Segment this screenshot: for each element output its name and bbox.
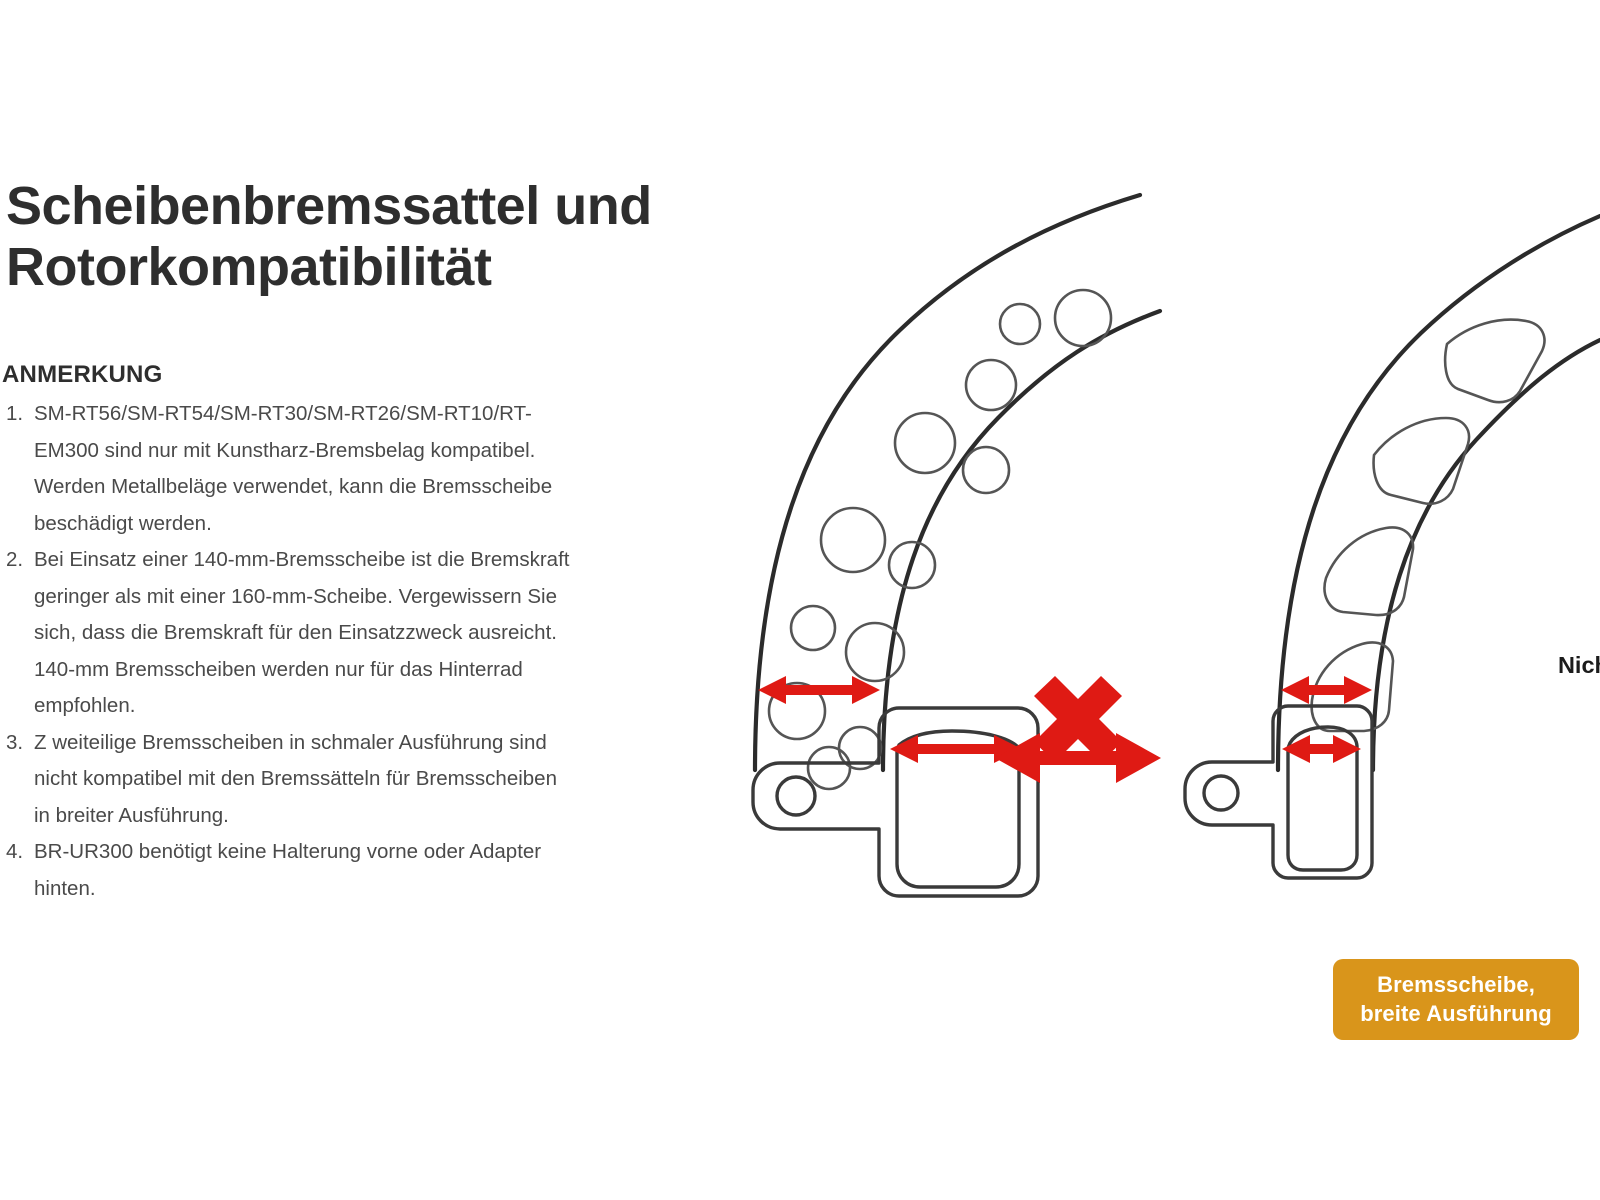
note-item-4-number: 4. — [6, 834, 34, 871]
rotor-hole — [821, 508, 885, 572]
note-item-2-number: 2. — [6, 542, 34, 579]
note-list: 1. SM-RT56/SM-RT54/SM-RT30/SM-RT26/SM-RT… — [0, 396, 575, 907]
rotor-hole — [966, 360, 1016, 410]
rotor-narrow-slots — [1312, 320, 1545, 731]
rotor-hole — [895, 413, 955, 473]
badge-rotor-wide-line-2: breite Ausführung — [1347, 999, 1565, 1028]
note-item-1-number: 1. — [6, 396, 34, 433]
page-title-line-2: Rotorkompatibilität — [6, 237, 596, 298]
compatibility-diagram: Nicht austauschbar Bremsscheibe, breite … — [600, 0, 1600, 1200]
badge-rotor-wide: Bremsscheibe, breite Ausführung — [1333, 959, 1579, 1040]
rotor-hole — [1055, 290, 1111, 346]
note-item-1-text: SM-RT56/SM-RT54/SM-RT30/SM-RT26/SM-RT10/… — [34, 402, 552, 535]
pad-pivot-hole — [777, 777, 815, 815]
rotor-hole — [791, 606, 835, 650]
note-item-4-text: BR-UR300 benötigt keine Halterung vorne … — [34, 840, 541, 900]
note-item-1: 1. SM-RT56/SM-RT54/SM-RT30/SM-RT26/SM-RT… — [0, 396, 575, 542]
rotor-hole — [963, 447, 1009, 493]
page-root: Scheibenbremssattel und Rotorkompatibili… — [0, 0, 1600, 1200]
page-title-line-1: Scheibenbremssattel und — [6, 176, 596, 237]
note-item-3-text: Z weiteilige Bremsscheiben in schmaler A… — [34, 731, 557, 827]
rotor-hole — [846, 623, 904, 681]
cross-icon — [1034, 676, 1122, 762]
text-column: Scheibenbremssattel und Rotorkompatibili… — [0, 0, 600, 1200]
rotor-slot — [1374, 418, 1469, 504]
note-item-2-text: Bei Einsatz einer 140-mm-Bremsscheibe is… — [34, 548, 569, 717]
page-title: Scheibenbremssattel und Rotorkompatibili… — [6, 176, 596, 298]
width-arrow-narrow-icon — [1281, 676, 1372, 704]
width-arrow-wide-icon — [758, 676, 880, 704]
badge-rotor-wide-line-1: Bremsscheibe, — [1347, 970, 1565, 999]
note-heading: ANMERKUNG — [2, 361, 162, 389]
note-item-4: 4. BR-UR300 benötigt keine Halterung vor… — [0, 834, 575, 907]
not-interchangeable-label: Nicht austauschbar — [1547, 652, 1600, 679]
note-item-3-number: 3. — [6, 725, 34, 762]
pad-pivot-hole — [1204, 776, 1238, 810]
rotor-hole — [1000, 304, 1040, 344]
note-item-3: 3. Z weiteilige Bremsscheiben in schmale… — [0, 725, 575, 835]
note-item-2: 2. Bei Einsatz einer 140-mm-Bremsscheibe… — [0, 542, 575, 725]
